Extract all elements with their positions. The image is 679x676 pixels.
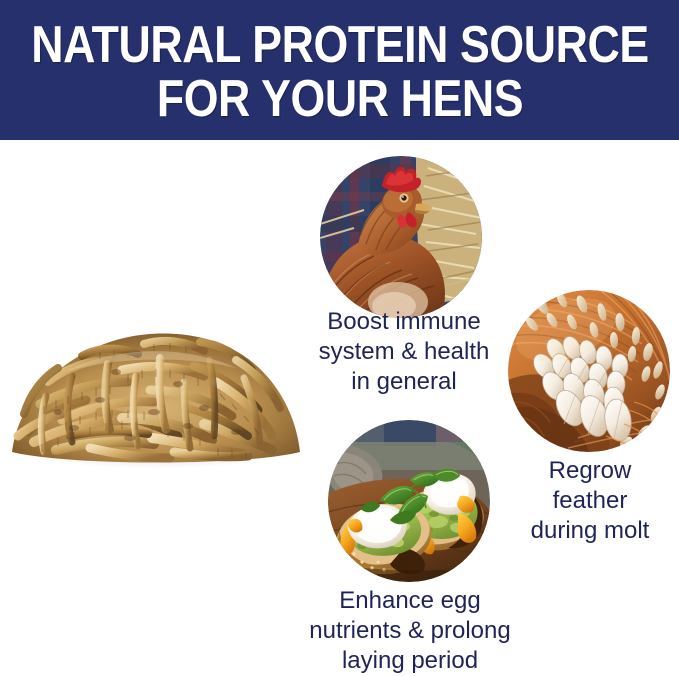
feature-image-enhance-egg <box>328 420 490 582</box>
page-title-line-2: FOR YOUR HENS <box>156 72 522 126</box>
mealworm-pile-image <box>4 320 306 472</box>
header-banner: NATURAL PROTEIN SOURCE FOR YOUR HENS <box>0 0 679 140</box>
feature-caption-regrow-feather: Regrow feather during molt <box>506 456 674 546</box>
feature-image-boost-immune <box>320 156 482 318</box>
feature-caption-boost-immune: Boost immune system & health in general <box>290 307 518 397</box>
page-title-line-1: NATURAL PROTEIN SOURCE <box>31 18 648 72</box>
feature-image-regrow-feather <box>508 290 670 452</box>
feature-caption-enhance-egg: Enhance egg nutrients & prolong laying p… <box>268 586 552 676</box>
